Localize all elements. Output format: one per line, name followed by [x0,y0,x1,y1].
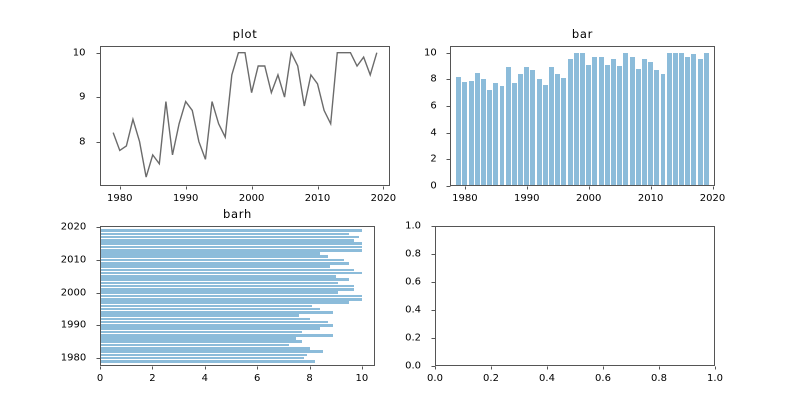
bar [506,67,511,186]
bar [580,53,585,186]
bar [636,69,641,186]
hbar [100,236,359,239]
hbar [100,308,320,311]
hbar [100,301,349,304]
y-tick-mark [432,226,436,227]
bar [667,53,672,186]
bar [679,53,684,186]
bar [574,53,579,186]
axes-bar-vertical: bar 19801990200020102020 0246810 [450,46,715,186]
hbar [100,285,354,288]
hbar [100,229,362,232]
hbar [100,272,362,275]
y-tick-label: 0.6 [405,277,421,288]
hbar [100,282,338,285]
hbar [100,334,333,337]
y-tick-mark [97,227,101,228]
barh-plot-area [100,226,375,366]
hbar [100,321,328,324]
bar [617,66,622,186]
bar [568,59,573,186]
line-plot-area [100,46,390,186]
x-tick-mark [603,366,604,370]
x-tick-label: 8 [306,373,312,384]
y-tick-mark [97,53,101,54]
y-tick-label: 10 [73,47,86,58]
y-tick-label: 4 [430,127,436,138]
hbar [100,278,349,281]
y-tick-mark [447,106,451,107]
x-tick-label: 6 [254,373,260,384]
hbar [100,337,296,340]
bar [512,83,517,186]
axes-title-bar: bar [450,27,715,41]
y-tick-label: 0.8 [405,249,421,260]
x-tick-label: 0.4 [539,373,555,384]
hbar [100,246,362,249]
empty-plot-area [435,226,715,366]
hbar [100,344,289,347]
bar [500,86,505,186]
hbar [100,249,362,252]
line-series-gdp [100,46,390,186]
hbar [100,318,310,321]
x-tick-label: 4 [202,373,208,384]
y-tick-label: 2020 [61,222,86,233]
hbar [100,350,323,353]
hbar [100,305,312,308]
y-tick-label: 0 [430,181,436,192]
x-tick-label: 1990 [514,193,539,204]
bar [673,53,678,186]
y-tick-mark [97,142,101,143]
y-tick-label: 2 [430,154,436,165]
bar [704,53,709,186]
bar [661,74,666,186]
x-tick-label: 2020 [700,193,725,204]
bar [530,70,535,186]
hbar [100,239,354,242]
hbar [100,233,349,236]
x-tick-label: 2020 [371,193,396,204]
axes-plot-line: plot 19801990200020102020 8910 [100,46,390,186]
x-tick-label: 1990 [173,193,198,204]
hbar [100,242,362,245]
x-tick-mark [362,366,363,370]
x-tick-label: 2 [149,373,155,384]
y-tick-label: 9 [79,92,85,103]
bar [493,83,498,186]
y-tick-mark [447,133,451,134]
hbar [100,291,338,294]
hbar [100,262,349,265]
x-tick-mark [310,366,311,370]
x-tick-mark [318,186,319,190]
bar [561,78,566,186]
y-tick-label: 1.0 [405,221,421,232]
y-tick-label: 1980 [61,353,86,364]
bar [685,57,690,186]
y-tick-mark [447,186,451,187]
axes-empty: 0.00.20.40.60.81.0 0.00.20.40.60.81.0 [435,226,715,366]
x-tick-mark [435,366,436,370]
x-tick-label: 0.2 [483,373,499,384]
bar [518,74,523,186]
hbar [100,288,354,291]
y-tick-mark [432,254,436,255]
x-tick-label: 1.0 [707,373,723,384]
hbar [100,298,362,301]
x-tick-mark [713,186,714,190]
y-tick-mark [97,97,101,98]
bar [642,59,647,186]
y-tick-label: 2000 [61,287,86,298]
bar [698,59,703,186]
hbar [100,311,333,314]
x-tick-label: 0.8 [651,373,667,384]
x-tick-mark [152,366,153,370]
bar [524,67,529,186]
bar [599,57,604,186]
bar [630,57,635,186]
bar [481,79,486,186]
y-tick-mark [432,338,436,339]
hbar [100,265,330,268]
axes-title-plot: plot [100,27,390,41]
x-tick-mark [651,186,652,190]
hbar [100,295,362,298]
y-tick-mark [97,260,101,261]
y-tick-mark [432,282,436,283]
y-tick-label: 0.4 [405,305,421,316]
y-tick-mark [432,310,436,311]
hbar [100,357,304,360]
x-tick-label: 2010 [305,193,330,204]
x-tick-mark [589,186,590,190]
x-tick-mark [659,366,660,370]
x-tick-label: 0 [97,373,103,384]
bar [475,73,480,186]
y-tick-mark [447,53,451,54]
x-tick-mark [547,366,548,370]
hbar [100,347,310,350]
x-tick-mark [120,186,121,190]
axes-barh-horizontal: barh 0246810 19801990200020102020 [100,226,375,366]
x-tick-label: 0.6 [595,373,611,384]
y-tick-label: 0.0 [405,361,421,372]
x-tick-label: 1980 [452,193,477,204]
bar [592,57,597,186]
y-tick-label: 8 [430,74,436,85]
bar [537,79,542,186]
x-tick-mark [527,186,528,190]
x-tick-label: 1980 [107,193,132,204]
y-tick-mark [97,293,101,294]
x-tick-label: 2010 [638,193,663,204]
x-tick-mark [186,186,187,190]
y-tick-label: 2010 [61,255,86,266]
y-tick-label: 6 [430,101,436,112]
x-tick-mark [715,366,716,370]
bar [605,65,610,186]
bar [543,85,548,186]
x-tick-label: 0.0 [427,373,443,384]
bar [555,74,560,186]
hbar [100,340,302,343]
x-tick-mark [252,186,253,190]
bar [487,90,492,186]
y-tick-mark [447,159,451,160]
hbar [100,354,307,357]
hbar [100,259,344,262]
y-tick-mark [447,79,451,80]
x-tick-label: 10 [356,373,369,384]
x-tick-mark [257,366,258,370]
hbar [100,275,336,278]
hbar [100,314,299,317]
bar [691,54,696,186]
hbar [100,324,333,327]
bar [623,53,628,186]
y-tick-label: 1990 [61,320,86,331]
bar [648,62,653,186]
x-tick-mark [205,366,206,370]
bar [549,67,554,186]
y-tick-label: 0.2 [405,333,421,344]
hbar [100,327,320,330]
bar [611,59,616,186]
bar [586,65,591,186]
axes-title-barh: barh [100,207,375,221]
x-tick-mark [383,186,384,190]
bar [654,70,659,186]
bar [456,77,461,186]
x-tick-mark [465,186,466,190]
y-tick-mark [432,366,436,367]
hbar [100,269,354,272]
x-tick-mark [100,366,101,370]
hbar [100,360,315,363]
bar [462,82,467,186]
y-tick-mark [97,358,101,359]
bar-plot-area [450,46,715,186]
hbar [100,255,328,258]
x-tick-label: 2000 [239,193,264,204]
y-tick-label: 8 [79,136,85,147]
x-tick-label: 2000 [576,193,601,204]
matplotlib-figure: plot 19801990200020102020 8910 bar 19801… [0,0,800,411]
x-tick-mark [491,366,492,370]
hbar [100,252,320,255]
hbar [100,331,302,334]
bar [469,81,474,186]
y-tick-mark [97,325,101,326]
y-tick-label: 10 [424,47,437,58]
